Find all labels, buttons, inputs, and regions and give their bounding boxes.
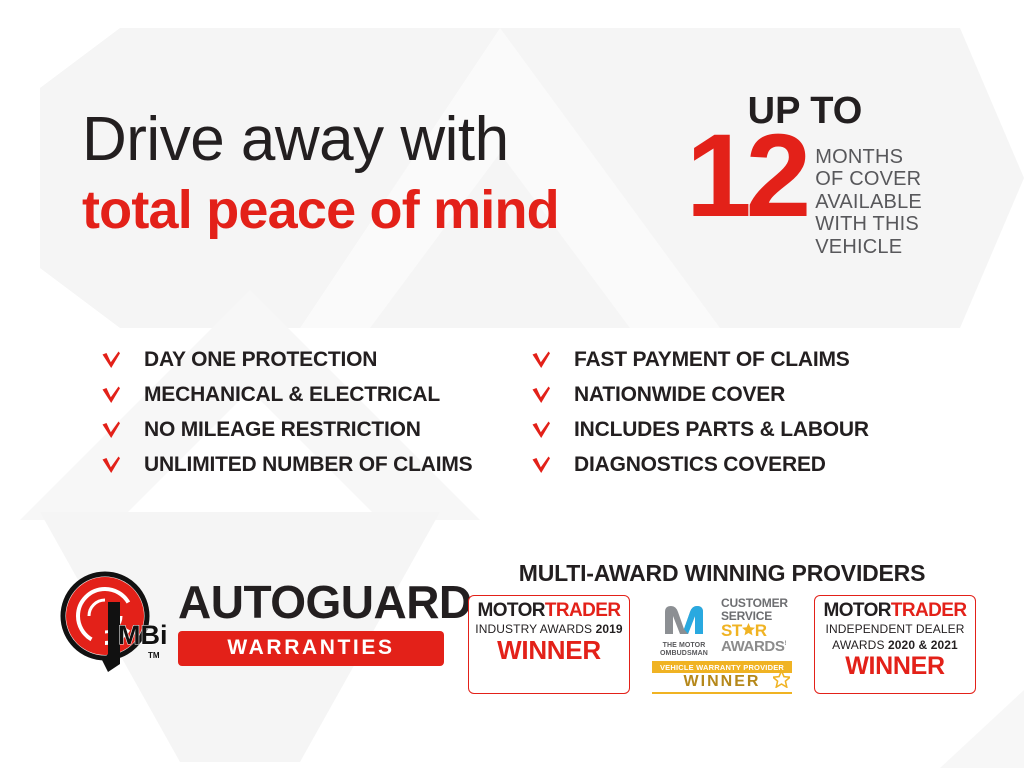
badge-subtitle-year: 2019	[596, 622, 623, 636]
checkmark-icon	[100, 454, 122, 476]
badge-brand-trader: TRADER	[545, 600, 621, 621]
svg-text:MBi: MBi	[118, 620, 166, 650]
cover-detail-line-3: AVAILABLE	[815, 191, 922, 213]
feature-label: FAST PAYMENT OF CLAIMS	[574, 348, 850, 372]
feature-item: MECHANICAL & ELECTRICAL	[100, 377, 530, 412]
headline-line-2: total peace of mind	[82, 183, 682, 238]
ombudsman-mark-icon	[662, 622, 706, 639]
ombudsman-name: THE MOTOR OMBUDSMAN	[653, 642, 715, 658]
awards-section: MULTI-AWARD WINNING PROVIDERS MOTORTRADE…	[468, 560, 976, 694]
ribbon-winner-label: WINNER	[652, 673, 792, 694]
feature-label: DIAGNOSTICS COVERED	[574, 453, 826, 477]
badge-subtitle-years: 2020 & 2021	[888, 638, 958, 652]
badge-winner-label: WINNER	[473, 637, 625, 664]
autoguard-wordmark: AUTOGUARD WARRANTIES	[178, 579, 472, 666]
checkmark-icon	[530, 384, 552, 406]
feature-item: UNLIMITED NUMBER OF CLAIMS	[100, 447, 530, 482]
badge-subtitle-line-2: AWARDS 2020 & 2021	[819, 638, 971, 653]
feature-item: NO MILEAGE RESTRICTION	[100, 412, 530, 447]
star-awards-sup: !	[784, 641, 786, 647]
award-badge-motor-trader-industry-2019: MOTORTRADER INDUSTRY AWARDS 2019 WINNER	[468, 595, 630, 694]
autoguard-wordmark-top: AUTOGUARD	[178, 579, 472, 625]
cover-months-number: 12	[686, 126, 805, 227]
autoguard-wordmark-bar: WARRANTIES	[178, 631, 444, 666]
star-awards-awards-text: AWARDS	[721, 638, 784, 655]
feature-item: NATIONWIDE COVER	[530, 377, 940, 412]
feature-label: INCLUDES PARTS & LABOUR	[574, 418, 869, 442]
feature-label: MECHANICAL & ELECTRICAL	[144, 383, 440, 407]
headline: Drive away with total peace of mind	[82, 108, 682, 238]
badge-brand-motor: MOTOR	[824, 600, 891, 621]
feature-item: INCLUDES PARTS & LABOUR	[530, 412, 940, 447]
motor-ombudsman-logo: THE MOTOR OMBUDSMAN	[653, 597, 715, 658]
checkmark-icon	[530, 419, 552, 441]
star-awards-line-3: ST R	[721, 622, 791, 639]
badge-brand: MOTORTRADER	[473, 601, 625, 621]
star-icon	[742, 622, 755, 639]
autoguard-wordmark-bottom: WARRANTIES	[227, 636, 394, 659]
badge-brand: MOTORTRADER	[819, 601, 971, 621]
star-awards-r: R	[755, 622, 767, 639]
ribbon-star-icon	[773, 671, 790, 691]
star-awards-line-1: CUSTOMER	[721, 597, 791, 610]
feature-label: NATIONWIDE COVER	[574, 383, 785, 407]
star-awards-st: ST	[721, 622, 742, 639]
feature-item: DAY ONE PROTECTION	[100, 342, 530, 377]
feature-list: DAY ONE PROTECTION MECHANICAL & ELECTRIC…	[100, 342, 940, 482]
badge-brand-trader: TRADER	[891, 600, 967, 621]
cover-duration-block: UP TO 12 MONTHS OF COVER AVAILABLE WITH …	[690, 92, 970, 258]
feature-column-left: DAY ONE PROTECTION MECHANICAL & ELECTRIC…	[100, 342, 530, 482]
checkmark-icon	[100, 419, 122, 441]
cover-detail-lines: MONTHS OF COVER AVAILABLE WITH THIS VEHI…	[815, 146, 922, 258]
cover-detail-line-1: MONTHS	[815, 146, 922, 168]
checkmark-icon	[530, 454, 552, 476]
badge-winner-label: WINNER	[819, 653, 971, 679]
checkmark-icon	[100, 384, 122, 406]
star-awards-line-4: AWARDS!	[721, 639, 791, 655]
badge-subtitle-awards-text: AWARDS	[832, 638, 888, 652]
mbi-logo-icon: MBi TM	[58, 568, 166, 676]
award-badge-motor-trader-independent-dealer: MOTORTRADER INDEPENDENT DEALER AWARDS 20…	[814, 595, 976, 694]
ombudsman-name-line-1: THE MOTOR	[653, 642, 715, 650]
feature-item: FAST PAYMENT OF CLAIMS	[530, 342, 940, 377]
svg-text:TM: TM	[148, 651, 160, 660]
award-badges: MOTORTRADER INDUSTRY AWARDS 2019 WINNER	[468, 595, 976, 694]
promo-banner: Drive away with total peace of mind UP T…	[0, 0, 1024, 768]
badge-subtitle-text: INDUSTRY AWARDS	[475, 622, 595, 636]
cover-detail-line-4: WITH THIS	[815, 213, 922, 235]
feature-label: DAY ONE PROTECTION	[144, 348, 377, 372]
feature-item: DIAGNOSTICS COVERED	[530, 447, 940, 482]
feature-column-right: FAST PAYMENT OF CLAIMS NATIONWIDE COVER …	[530, 342, 940, 482]
checkmark-icon	[100, 349, 122, 371]
star-awards-logo: CUSTOMER SERVICE ST R AW	[721, 597, 791, 655]
awards-title: MULTI-AWARD WINNING PROVIDERS	[468, 560, 976, 587]
headline-line-1: Drive away with	[82, 108, 682, 171]
badge-brand-motor: MOTOR	[478, 600, 545, 621]
badge-subtitle-line-1: INDEPENDENT DEALER	[819, 622, 971, 637]
cover-detail-line-5: VEHICLE	[815, 236, 922, 258]
star-awards-winner-ribbon: VEHICLE WARRANTY PROVIDER WINNER	[652, 661, 792, 694]
ombudsman-name-line-2: OMBUDSMAN	[653, 650, 715, 658]
award-badge-customer-service-star-awards: THE MOTOR OMBUDSMAN CUSTOMER SERVICE ST	[652, 595, 792, 694]
ribbon-category-label: VEHICLE WARRANTY PROVIDER	[652, 661, 792, 673]
background-watermark-corner-right	[880, 690, 1024, 768]
feature-label: NO MILEAGE RESTRICTION	[144, 418, 421, 442]
feature-label: UNLIMITED NUMBER OF CLAIMS	[144, 453, 472, 477]
checkmark-icon	[530, 349, 552, 371]
cover-detail-line-2: OF COVER	[815, 168, 922, 190]
autoguard-logo: MBi TM AUTOGUARD WARRANTIES	[58, 568, 472, 676]
